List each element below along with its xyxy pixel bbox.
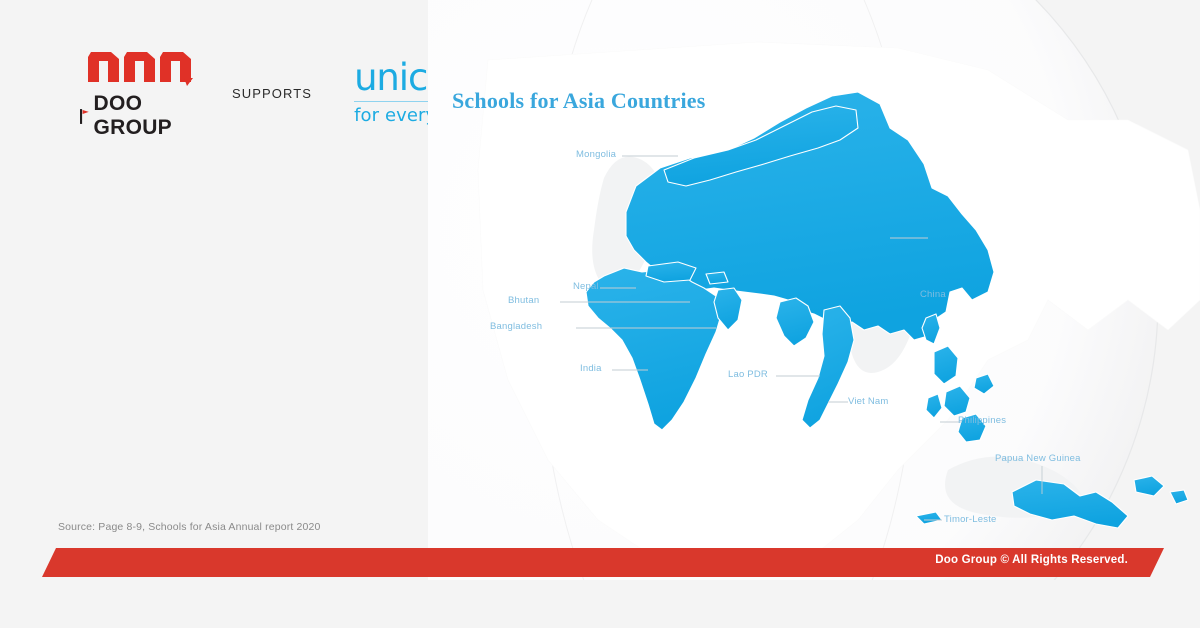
- doo-group-logo: DOO GROUP: [80, 46, 210, 140]
- map-label-viet-nam: Viet Nam: [848, 396, 889, 407]
- map-label-timor-leste: Timor-Leste: [944, 514, 997, 525]
- source-note: Source: Page 8-9, Schools for Asia Annua…: [58, 521, 320, 533]
- map-label-mongolia: Mongolia: [576, 149, 616, 160]
- poster-canvas: DOO GROUP SUPPORTS unicef for every: [0, 0, 1200, 628]
- map-label-india: India: [580, 363, 602, 374]
- doo-flag-icon: [80, 108, 90, 125]
- doo-group-name: DOO GROUP: [93, 92, 210, 140]
- map-label-papua-new-guinea: Papua New Guinea: [995, 453, 1081, 464]
- map-title: Schools for Asia Countries: [452, 88, 706, 114]
- map-label-bhutan: Bhutan: [508, 295, 539, 306]
- supports-label: SUPPORTS: [232, 86, 312, 101]
- doo-chevrons-icon: [85, 46, 205, 88]
- map-label-bangladesh: Bangladesh: [490, 321, 542, 332]
- map-label-china: China: [920, 289, 946, 300]
- map-label-nepal: Nepal: [573, 281, 599, 292]
- footer-copyright: Doo Group © All Rights Reserved.: [935, 554, 1128, 566]
- asia-map-graphic: [428, 0, 1200, 580]
- asia-map: Schools for Asia Countries Mongolia Chin…: [428, 0, 1200, 580]
- doo-group-wordmark: DOO GROUP: [80, 92, 210, 140]
- map-label-lao-pdr: Lao PDR: [728, 369, 768, 380]
- footer: Doo Group © All Rights Reserved.: [0, 548, 1200, 582]
- map-label-philippines: Philippines: [958, 415, 1006, 426]
